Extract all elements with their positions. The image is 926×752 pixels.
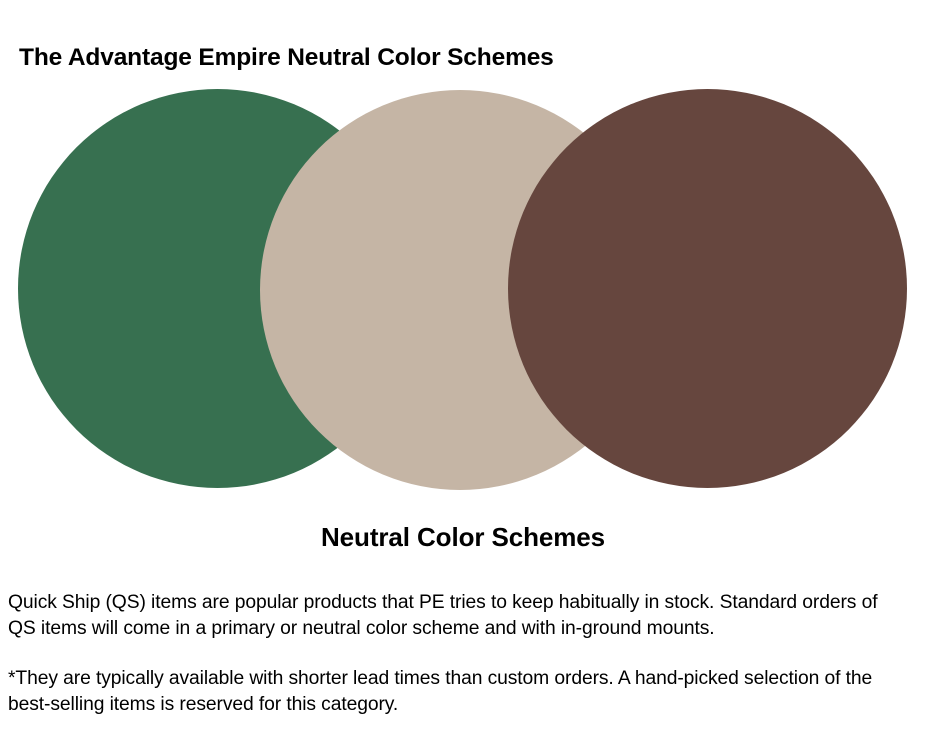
color-swatch-brown — [508, 89, 907, 488]
body-paragraph-2: *They are typically available with short… — [8, 666, 908, 717]
body-copy: Quick Ship (QS) items are popular produc… — [8, 590, 908, 717]
body-paragraph-1: Quick Ship (QS) items are popular produc… — [8, 590, 908, 641]
color-swatch-group — [0, 0, 926, 500]
document-page: The Advantage Empire Neutral Color Schem… — [0, 0, 926, 752]
swatch-caption: Neutral Color Schemes — [0, 521, 926, 553]
